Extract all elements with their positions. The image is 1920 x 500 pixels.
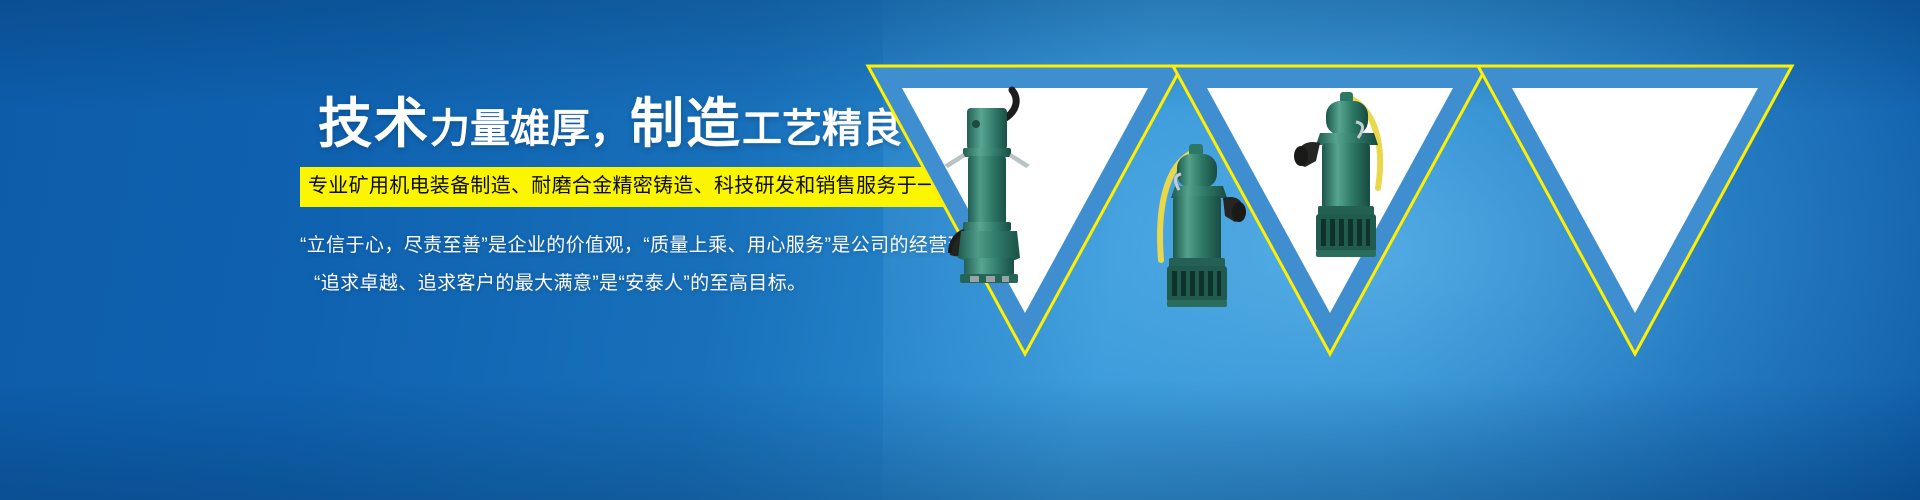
subtitle-wrapper: 专业矿用机电装备制造、耐磨合金精密铸造、科技研发和销售服务于一体的股份制企业 [300,167,920,207]
promotional-banner: 技术力量雄厚，制造工艺精良 专业矿用机电装备制造、耐磨合金精密铸造、科技研发和销… [0,0,1920,500]
product-image-pump-3 [1290,88,1408,268]
inverted-triangle-frame-3 [1470,58,1800,358]
headline-segment-1: 技术 [318,94,430,154]
headline-segment-3: 制造 [630,94,742,154]
headline: 技术力量雄厚，制造工艺精良 [300,96,920,153]
product-image-pump-2 [1135,140,1253,315]
body-line-1: “立信于心，尽责至善”是企业的价值观，“质量上乘、用心服务”是公司的经营理念， [300,227,920,265]
body-line-2: “追求卓越、追求客户的最大满意”是“安泰人”的至高目标。 [300,265,920,303]
body-text: “立信于心，尽责至善”是企业的价值观，“质量上乘、用心服务”是公司的经营理念， … [300,227,920,303]
text-block: 技术力量雄厚，制造工艺精良 专业矿用机电装备制造、耐磨合金精密铸造、科技研发和销… [300,96,920,303]
product-image-pump-1 [934,86,1044,296]
headline-segment-2: 力量雄厚， [430,107,630,151]
